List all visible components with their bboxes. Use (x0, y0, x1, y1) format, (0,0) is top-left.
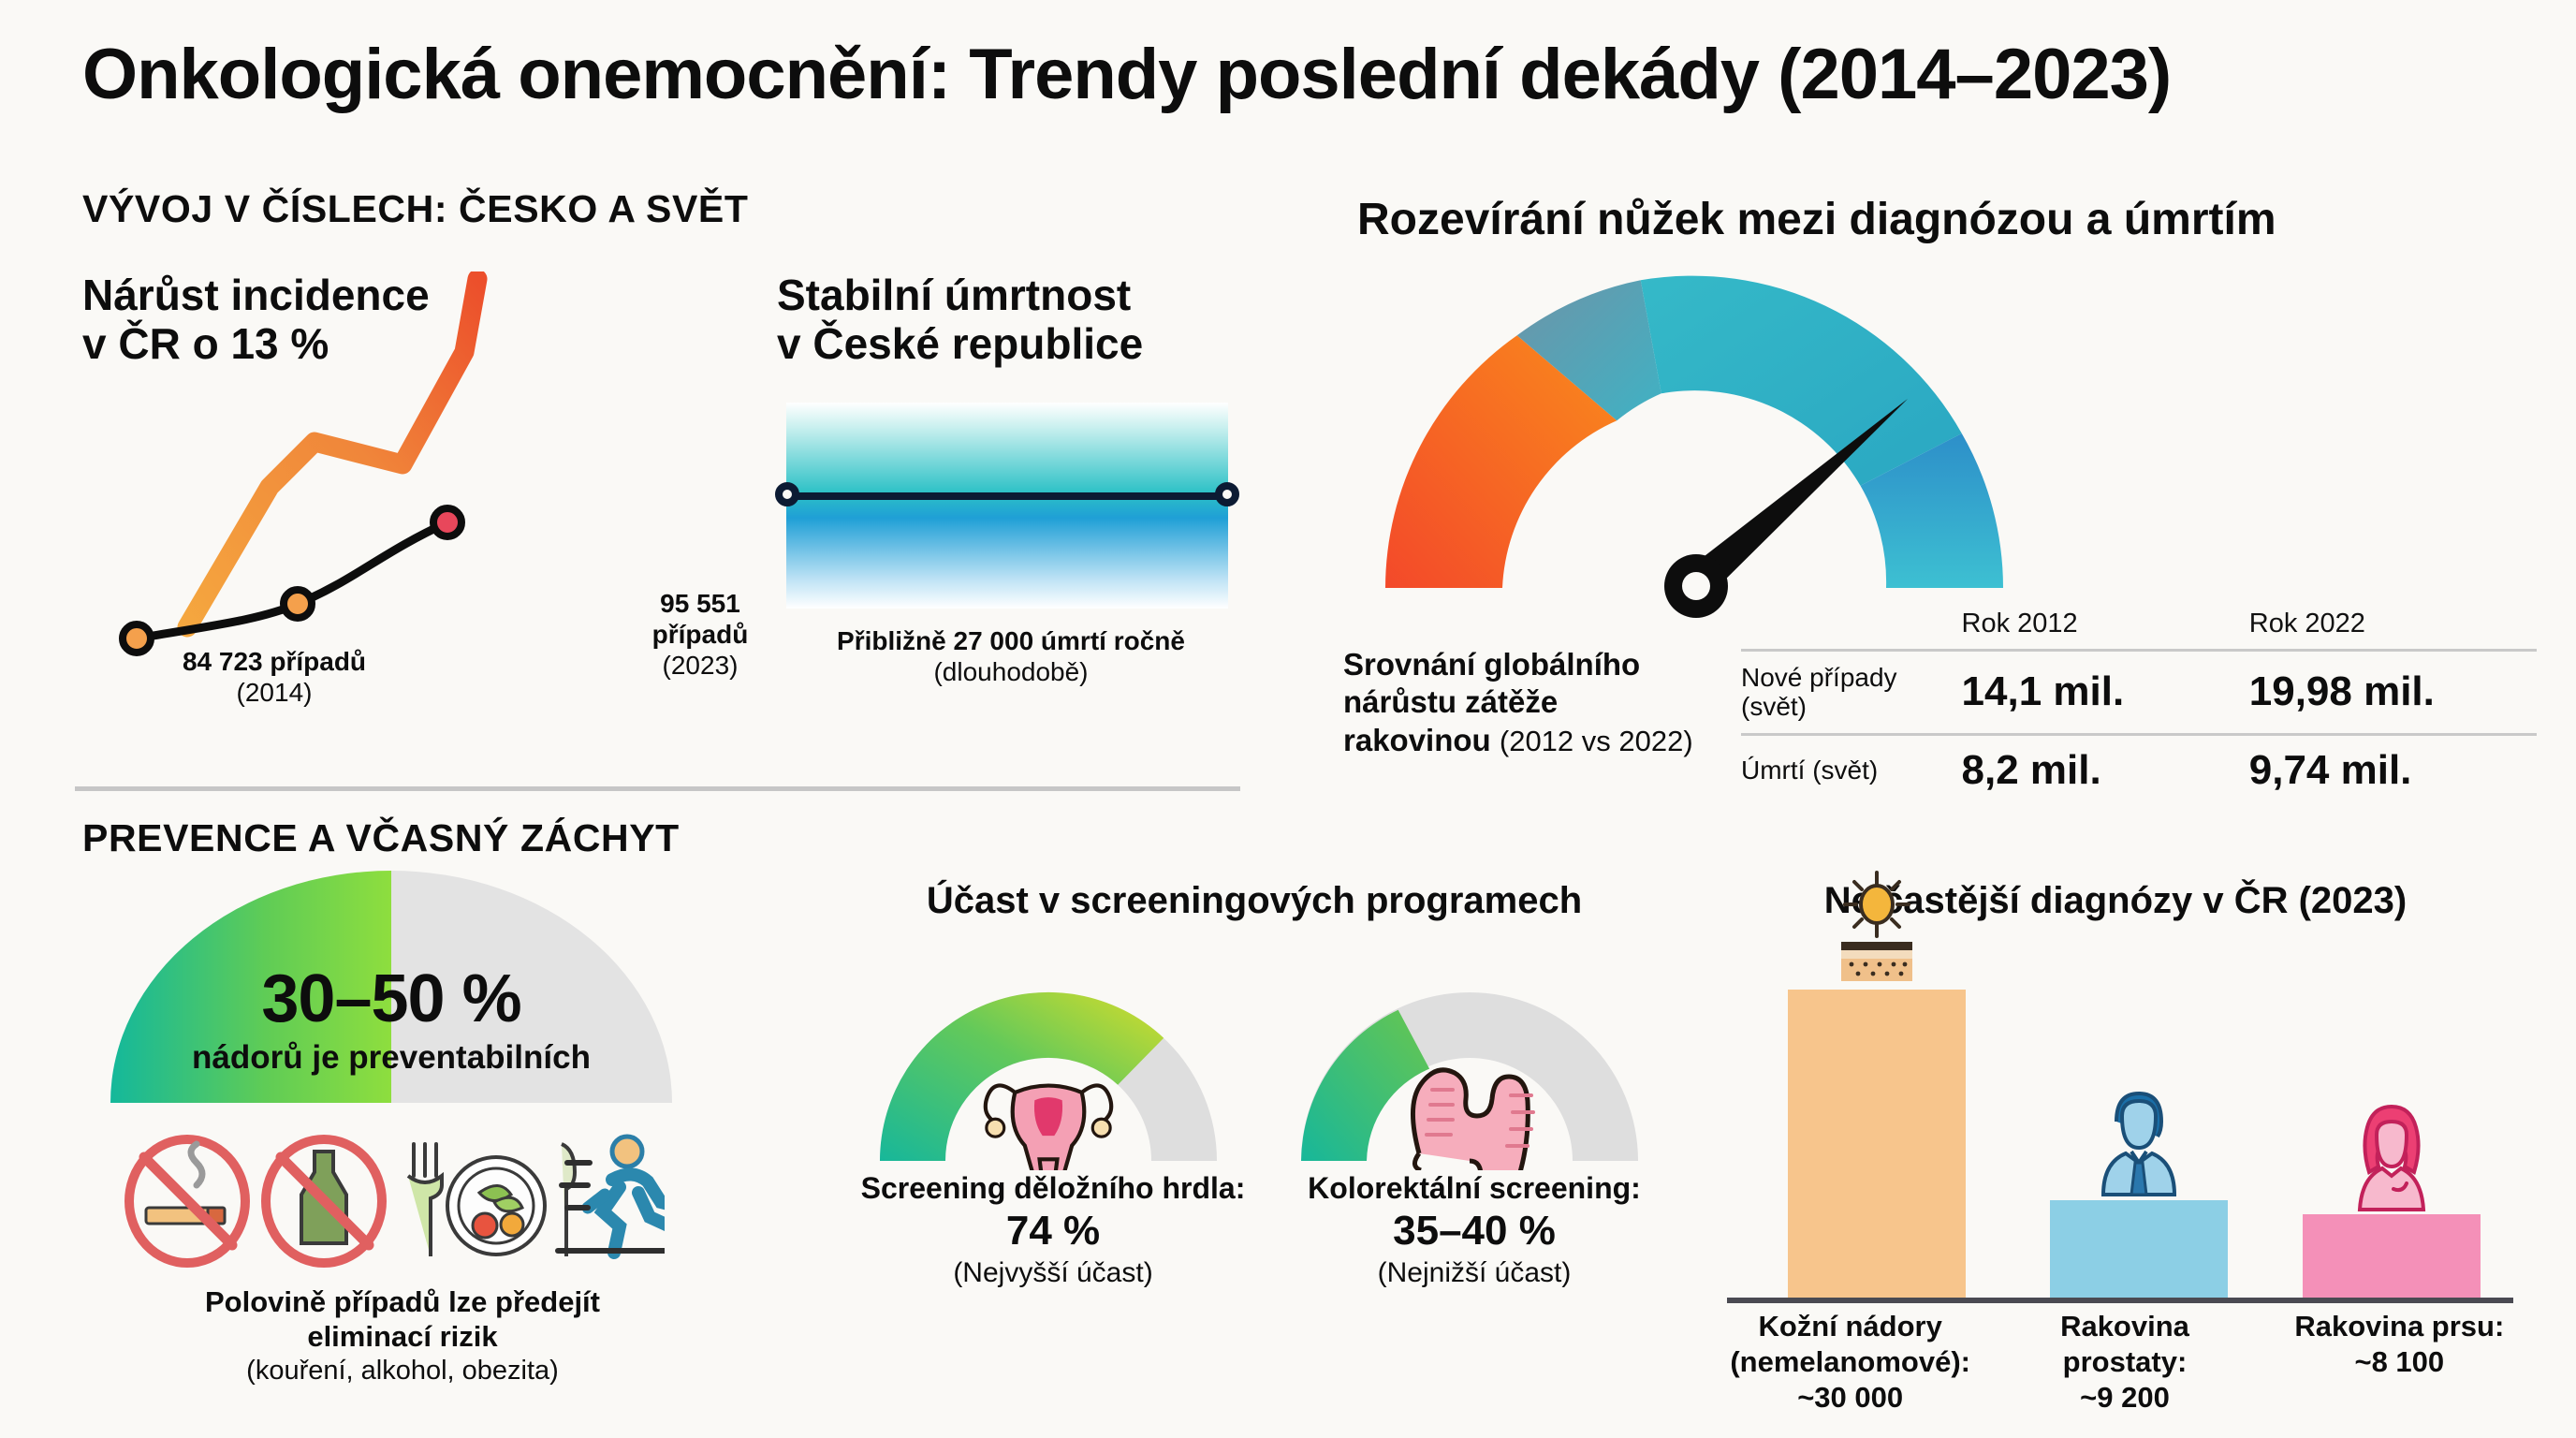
orange-trend-line (187, 279, 477, 627)
mortality-heading: Stabilní úmrtnost v České republice (777, 271, 1245, 368)
bar-column-prostate (2050, 936, 2228, 1301)
row-label-new-cases-sub: (svět) (1741, 692, 1962, 721)
screening-note-colorectal: (Nejnižší účast) (1264, 1256, 1685, 1290)
running-person-icon (558, 1137, 665, 1253)
prevention-caption-line3: (kouření, alkohol, obezita) (94, 1354, 711, 1387)
prevention-caption: Polovině případů lze předejít eliminací … (94, 1284, 711, 1388)
prevention-dome-text: 30–50 % nádorů je preventabilních (110, 961, 672, 1077)
cell-deaths-2012: 8,2 mil. (1962, 734, 2249, 805)
comparison-table: Rok 2012 Rok 2022 Nové případy (svět) 14… (1741, 609, 2537, 805)
comparison-label-line2: nárůstu zátěže (1343, 684, 1558, 719)
bar-label-breast-l1: Rakovina prsu: (2262, 1309, 2537, 1344)
bar-label-skin-l2: (nemelanomové): (1713, 1344, 1987, 1380)
gauge-hub-center (1682, 572, 1710, 600)
screening-caption-colorectal: Kolorektální screening: 35–40 % (Nejnižš… (1264, 1170, 1685, 1290)
screening-name-colorectal: Kolorektální screening: (1264, 1170, 1685, 1206)
bar-label-prostate-l2: prostaty: (1987, 1344, 2261, 1380)
screening-captions: Screening děložního hrdla: 74 % (Nejvyšš… (842, 1170, 1685, 1290)
incidence-start-value: 84 723 případů (120, 646, 429, 677)
incidence-point-mid (284, 590, 312, 618)
th-blank (1741, 609, 1962, 651)
female-person-icon (2335, 1099, 2448, 1211)
bars-baseline (1727, 1298, 2513, 1303)
comparison-label-line1: Srovnání globálního (1343, 647, 1640, 682)
diagnosis-mortality-gauge (1339, 251, 2050, 625)
table-row: Úmrtí (svět) 8,2 mil. 9,74 mil. (1741, 734, 2537, 805)
bar-label-prostate-l3: ~9 200 (1987, 1380, 2261, 1416)
mortality-note: (dlouhodobě) (777, 656, 1245, 687)
incidence-end-unit: případů (607, 619, 794, 650)
mortality-heading-line2: v České republice (777, 320, 1245, 369)
gauge-segment-teal (1641, 276, 1962, 486)
incidence-label-2023: 95 551 případů (2023) (607, 588, 794, 681)
skin-sun-icon (1821, 871, 1933, 983)
risk-factor-icons (122, 1131, 665, 1271)
row-label-new-cases-main: Nové případy (1741, 663, 1962, 692)
page-title: Onkologická onemocnění: Trendy poslední … (82, 34, 2497, 115)
mortality-value: Přibližně 27 000 úmrtí ročně (777, 625, 1245, 656)
mortality-flat-line (786, 492, 1228, 500)
screening-value-cervical: 74 % (842, 1206, 1264, 1256)
screening-gauges (871, 936, 1647, 1170)
bar-column-breast (2303, 936, 2481, 1301)
section-divider (75, 786, 1240, 791)
table-row: Nové případy (svět) 14,1 mil. 19,98 mil. (1741, 651, 2537, 735)
gauge-b-fill (1301, 1010, 1429, 1161)
cervical-screening-gauge (880, 992, 1217, 1170)
section-heading-prevence: PREVENCE A VČASNÝ ZÁCHYT (82, 816, 680, 860)
th-rok-2022: Rok 2022 (2249, 609, 2537, 651)
prevention-caption-line2: eliminací rizik (94, 1319, 711, 1354)
bar-label-skin-l1: Kožní nádory (1713, 1309, 1987, 1344)
bar-rect-skin (1788, 990, 1966, 1301)
incidence-end-value: 95 551 (607, 588, 794, 619)
incidence-end-year: (2023) (607, 650, 794, 681)
incidence-card: Nárůst incidence v ČR o 13 % 84 723 příp… (82, 271, 700, 749)
screening-title: Účast v screeningových programech (899, 880, 1610, 922)
incidence-label-2014: 84 723 případů (2014) (120, 646, 429, 708)
bar-label-breast: Rakovina prsu: ~8 100 (2262, 1309, 2537, 1415)
colon-icon (1412, 1070, 1533, 1170)
row-label-deaths: Úmrtí (svět) (1741, 734, 1962, 805)
row-label-deaths-main: Úmrtí (svět) (1741, 756, 1962, 785)
uterus-icon (986, 1085, 1111, 1170)
mortality-heading-line1: Stabilní úmrtnost (777, 271, 1245, 320)
incidence-point-2023 (433, 508, 461, 536)
th-rok-2012: Rok 2012 (1962, 609, 2249, 651)
section-heading-vyvoj: VÝVOJ V ČÍSLECH: ČESKO A SVĚT (82, 187, 749, 231)
table-header-row: Rok 2012 Rok 2022 (1741, 609, 2537, 651)
mortality-caption: Přibližně 27 000 úmrtí ročně (dlouhodobě… (777, 625, 1245, 687)
bar-label-skin: Kožní nádory (nemelanomové): ~30 000 (1713, 1309, 1987, 1415)
diagnoses-bar-chart (1741, 936, 2509, 1301)
prevention-percent: 30–50 % (110, 961, 672, 1037)
screening-note-cervical: (Nejvyšší účast) (842, 1256, 1264, 1290)
prevention-subtext: nádorů je preventabilních (110, 1039, 672, 1077)
screening-caption-cervical: Screening děložního hrdla: 74 % (Nejvyšš… (842, 1170, 1264, 1290)
screening-name-cervical: Screening děložního hrdla: (842, 1170, 1264, 1206)
mortality-point-end (1215, 482, 1239, 506)
bars-labels: Kožní nádory (nemelanomové): ~30 000 Rak… (1713, 1309, 2537, 1415)
row-label-new-cases: Nové případy (svět) (1741, 651, 1962, 735)
bar-rect-prostate (2050, 1200, 2228, 1301)
bar-rect-breast (2303, 1214, 2481, 1301)
screening-value-colorectal: 35–40 % (1264, 1206, 1685, 1256)
comparison-label-paren: (2012 vs 2022) (1500, 725, 1693, 757)
cell-new-cases-2012: 14,1 mil. (1962, 651, 2249, 735)
incidence-start-year: (2014) (120, 677, 429, 708)
bar-label-prostate: Rakovina prostaty: ~9 200 (1987, 1309, 2261, 1415)
no-smoking-icon (129, 1139, 245, 1263)
gauge-section-title: Rozevírání nůžek mezi diagnózou a úmrtím (1357, 194, 2276, 245)
mortality-flat-line-chart (786, 403, 1228, 609)
comparison-label: Srovnání globálního nárůstu zátěže rakov… (1343, 646, 1708, 759)
healthy-food-icon (408, 1144, 575, 1256)
bar-label-prostate-l1: Rakovina (1987, 1309, 2261, 1344)
bar-label-breast-l2: ~8 100 (2262, 1344, 2537, 1380)
bar-label-skin-l3: ~30 000 (1713, 1380, 1987, 1416)
male-person-icon (2083, 1084, 2195, 1196)
bar-column-skin (1788, 936, 1966, 1301)
colorectal-screening-gauge (1301, 992, 1638, 1170)
prevention-caption-line1: Polovině případů lze předejít (94, 1284, 711, 1319)
mortality-point-start (775, 482, 799, 506)
no-alcohol-icon (266, 1139, 382, 1263)
cell-new-cases-2022: 19,98 mil. (2249, 651, 2537, 735)
cell-deaths-2022: 9,74 mil. (2249, 734, 2537, 805)
comparison-label-line3: rakovinou (1343, 723, 1491, 757)
